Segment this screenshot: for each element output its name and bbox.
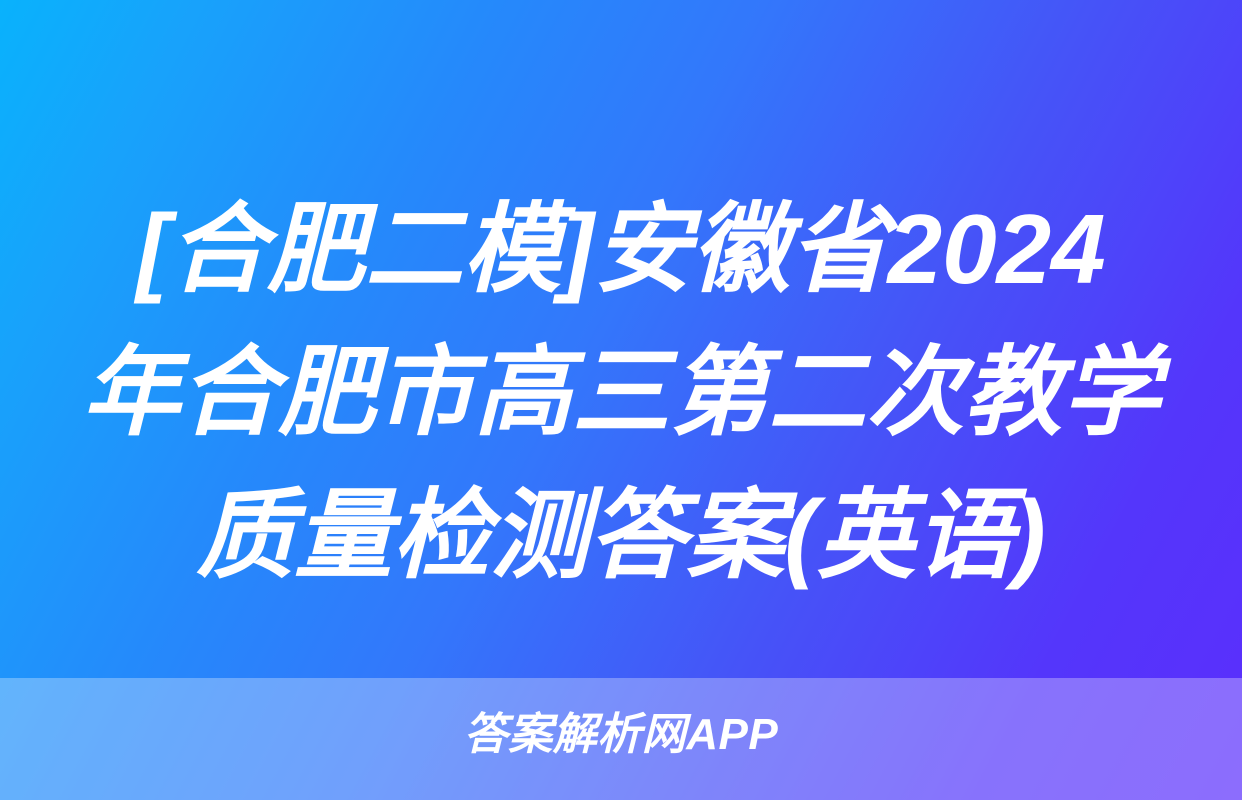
- title-line-2: 年合肥市高三第二次教学: [40, 321, 1202, 464]
- watermark-label: 答案解析网APP: [464, 706, 778, 764]
- page-title: [合肥二模]安徽省2024 年合肥市高三第二次教学 质量检测答案(英语): [0, 178, 1242, 607]
- exam-cover-card: [合肥二模]安徽省2024 年合肥市高三第二次教学 质量检测答案(英语) 答案解…: [0, 0, 1242, 800]
- title-line-1: [合肥二模]安徽省2024: [40, 178, 1202, 321]
- title-line-3: 质量检测答案(英语): [40, 464, 1202, 607]
- watermark: 答案解析网APP: [0, 706, 1242, 764]
